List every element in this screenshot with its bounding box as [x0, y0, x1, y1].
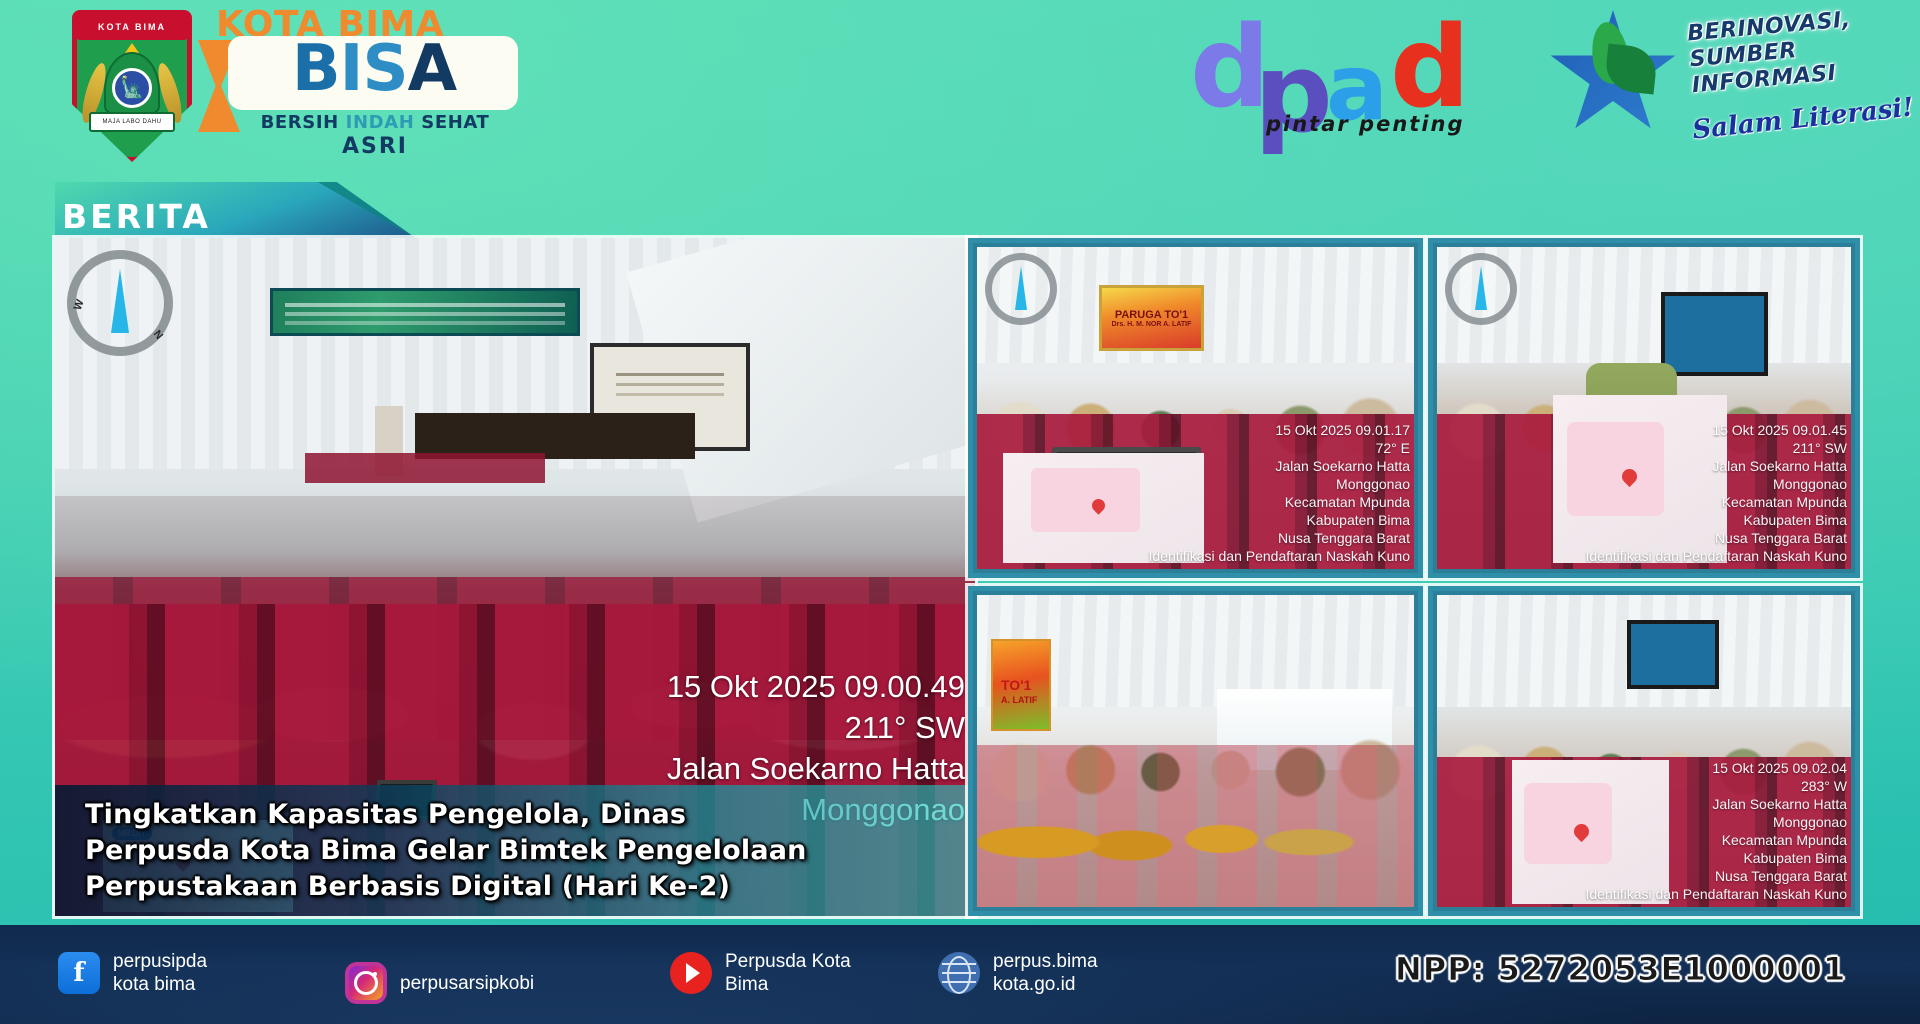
headline-bar: Tingkatkan Kapasitas Pengelola, Dinas Pe… — [55, 785, 975, 916]
gps-timestamp: 15 Okt 2025 09.02.04 283° W Jalan Soekar… — [1466, 759, 1847, 903]
instagram-icon[interactable] — [345, 962, 387, 1004]
audience-gold-uniform — [977, 745, 1414, 907]
news-poster: KOTA BIMA 🗽 MAJA LABO DAHU KOTA BIMA BIS… — [0, 0, 1920, 1024]
dpad-logo: d p a d pintar penting — [1190, 8, 1490, 140]
headline-line-3: Perpustakaan Berbasis Digital (Hari Ke-2… — [85, 869, 959, 905]
crest-ribbon-text: MAJA LABO DAHU — [102, 119, 161, 125]
ribbon-line-1: BERITA — [62, 196, 322, 238]
headline-line-1: Tingkatkan Kapasitas Pengelola, Dinas — [85, 797, 959, 833]
crest-garuda-circle: 🗽 — [112, 68, 152, 108]
bisa-letter-i: I — [340, 32, 363, 106]
thumbnail-bottom-right: 15 Okt 2025 09.02.04 283° W Jalan Soekar… — [1428, 586, 1860, 916]
thumb-photo: TO'1 A. LATIF — [977, 595, 1414, 907]
gps-timestamp: 15 Okt 2025 09.01.17 72° E Jalan Soekarn… — [1008, 421, 1410, 565]
globe-icon[interactable] — [938, 952, 980, 994]
thumb-photo: PARUGA TO'1 Drs. H. M. NOR A. LATIF 15 O… — [977, 247, 1414, 569]
poster-line-2: Drs. H. M. NOR A. LATIF — [1112, 321, 1192, 328]
facebook-icon[interactable]: f — [58, 952, 100, 994]
kota-bima-bisa-wordmark: KOTA BIMA BISA BERSIH INDAH SEHAT ASRI — [208, 4, 528, 172]
room-scene: TO'1 A. LATIF — [977, 595, 1414, 907]
kota-bima-crest-icon: KOTA BIMA 🗽 MAJA LABO DAHU — [72, 10, 192, 162]
social-label-facebook: perpusipda kota bima — [113, 950, 207, 996]
literacy-star-icon — [1548, 10, 1678, 140]
youtube-icon[interactable] — [670, 952, 712, 994]
tagline-sehat: SEHAT — [421, 112, 489, 133]
tv-screen — [1627, 620, 1718, 689]
compass-icon — [985, 253, 1057, 325]
social-instagram[interactable]: perpusarsipkobi — [345, 962, 534, 1004]
compass-needle — [1475, 266, 1487, 310]
compass-icon: W N — [67, 250, 173, 356]
poster-line-1: PARUGA TO'1 — [1115, 309, 1188, 321]
tagline-indah: INDAH — [346, 112, 422, 133]
compass-needle — [1015, 266, 1027, 310]
headline-line-2: Perpusda Kota Bima Gelar Bimtek Pengelol… — [85, 833, 959, 869]
tv-screen — [1661, 292, 1769, 376]
crest-ribbon: MAJA LABO DAHU — [89, 112, 175, 132]
wordmark-asri: ASRI — [232, 134, 518, 159]
gps-timestamp: 15 Okt 2025 09.01.45 211° SW Jalan Soeka… — [1466, 421, 1847, 565]
dpad-letter-d2: d — [1390, 12, 1470, 124]
garuda-bird-icon: 🗽 — [120, 78, 145, 98]
bisa-letter-a: A — [408, 32, 457, 106]
compass-label-west: W — [72, 298, 87, 312]
compass-icon — [1445, 253, 1517, 325]
thumb-photo: 15 Okt 2025 09.02.04 283° W Jalan Soekar… — [1437, 595, 1851, 907]
social-label-instagram: perpusarsipkobi — [400, 972, 534, 995]
wordmark-bisa: BISA — [234, 32, 514, 106]
poster-line-1: TO'1 — [1001, 677, 1031, 693]
social-youtube[interactable]: Perpusda Kota Bima — [670, 950, 851, 996]
paruga-poster: PARUGA TO'1 Drs. H. M. NOR A. LATIF — [1099, 285, 1204, 351]
compass-needle — [111, 269, 129, 333]
tagline-bersih: BERSIH — [261, 112, 346, 133]
dpad-tagline: pintar penting — [1266, 112, 1465, 136]
social-facebook[interactable]: f perpusipda kota bima — [58, 950, 207, 996]
paruga-poster: TO'1 A. LATIF — [991, 639, 1051, 731]
thumb-photo: 15 Okt 2025 09.01.45 211° SW Jalan Soeka… — [1437, 247, 1851, 569]
red-carpet — [305, 453, 545, 483]
npp-number: NPP: 5272053E1000001 — [1395, 950, 1846, 988]
bisa-letter-s: S — [362, 32, 407, 106]
thumbnail-bottom-left: TO'1 A. LATIF — [968, 586, 1423, 916]
poster-header: KOTA BIMA 🗽 MAJA LABO DAHU KOTA BIMA BIS… — [0, 0, 1920, 175]
social-label-youtube: Perpusda Kota Bima — [725, 950, 851, 996]
event-banner — [270, 288, 580, 336]
crest-band-text: KOTA BIMA — [98, 22, 166, 32]
thumbnail-top-right: 15 Okt 2025 09.01.45 211° SW Jalan Soeka… — [1428, 238, 1860, 578]
poster-line-2: A. LATIF — [1001, 695, 1037, 705]
social-label-website: perpus.bima kota.go.id — [993, 950, 1098, 996]
bisa-letter-b: B — [292, 32, 340, 106]
thumbnail-top-left: PARUGA TO'1 Drs. H. M. NOR A. LATIF 15 O… — [968, 238, 1423, 578]
social-website[interactable]: perpus.bima kota.go.id — [938, 950, 1098, 996]
wordmark-tagline: BERSIH INDAH SEHAT — [232, 112, 518, 133]
crest-band: KOTA BIMA — [76, 14, 188, 40]
